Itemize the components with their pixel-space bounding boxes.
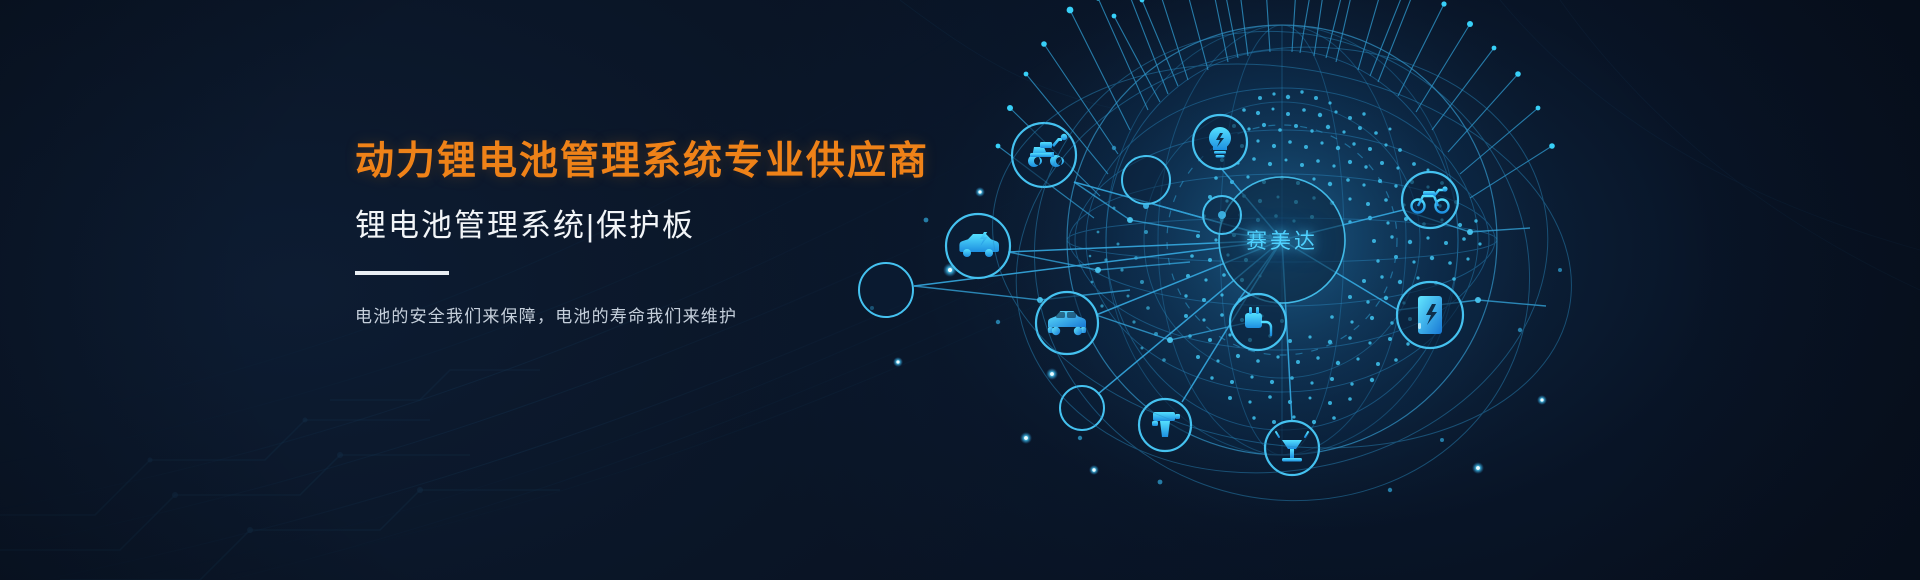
empty-node-icon [1060,386,1104,430]
empty-node-icon [1203,196,1241,234]
motorcycle-icon [1402,172,1458,228]
desk-lamp-icon [1265,421,1319,475]
brand-center-label: 赛美达 [1246,225,1318,255]
power-bank-icon [1397,282,1463,348]
empty-node-icon [1122,156,1170,204]
power-plug-icon [1230,294,1286,350]
hero-headline: 动力锂电池管理系统专业供应商 [355,140,1075,185]
background-circuit-traces [0,300,820,580]
power-drill-icon [1139,399,1191,451]
hero-copy-block: 动力锂电池管理系统专业供应商 锂电池管理系统|保护板 电池的安全我们来保障，电池… [355,140,1075,327]
hero-divider [355,271,449,275]
hero-subheadline: 锂电池管理系统|保护板 [355,207,1075,244]
lightbulb-icon [1193,115,1247,169]
hero-tagline: 电池的安全我们来保障，电池的寿命我们来维护 [355,302,1075,327]
hub-node-icon [1219,177,1345,303]
hero-banner: 动力锂电池管理系统专业供应商 锂电池管理系统|保护板 电池的安全我们来保障，电池… [0,0,1920,580]
